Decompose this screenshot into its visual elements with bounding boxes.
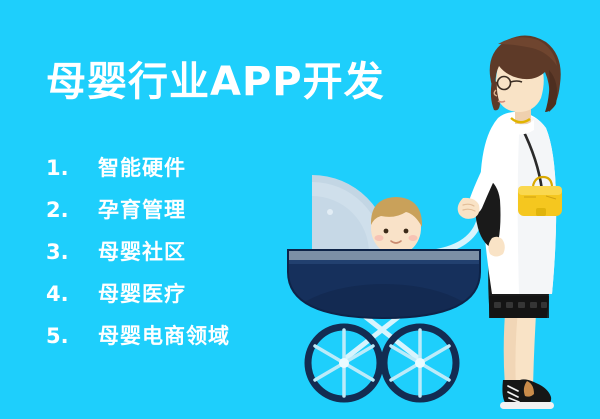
pram-handle [430, 203, 480, 253]
woman-glasses [498, 77, 523, 90]
list-item-label: 母婴社区 [98, 236, 186, 266]
list-item-label: 智能硬件 [98, 152, 186, 182]
page-title: 母婴行业APP开发 [46, 60, 385, 104]
pram-wheel-right [384, 327, 456, 399]
list-item-number: 5. [46, 324, 98, 348]
baby-figure [371, 197, 422, 256]
pram-legs [344, 300, 420, 358]
woman-shoe [500, 379, 554, 409]
list-item: 3. 母婴社区 [46, 236, 286, 278]
pram-group [284, 175, 484, 399]
pram-hood [312, 175, 390, 253]
list-item: 5. 母婴电商领域 [46, 320, 286, 362]
feature-list: 1. 智能硬件 2. 孕育管理 3. 母婴社区 4. 母婴医疗 5. 母婴电商领… [46, 152, 286, 362]
list-item-number: 4. [46, 282, 98, 306]
list-item: 4. 母婴医疗 [46, 278, 286, 320]
list-item-label: 孕育管理 [98, 194, 186, 224]
list-item-label: 母婴医疗 [98, 278, 186, 308]
woman-head [490, 36, 561, 113]
pram-basin [284, 250, 484, 376]
woman-arm [458, 150, 503, 219]
poster-canvas: 母婴行业APP开发 1. 智能硬件 2. 孕育管理 3. 母婴社区 4. 母婴医… [0, 0, 600, 419]
woman-handbag [518, 177, 562, 216]
pregnant-woman-figure [458, 36, 562, 410]
list-item-number: 3. [46, 240, 98, 264]
list-item-number: 2. [46, 198, 98, 222]
pram-wheel-left [308, 327, 380, 399]
list-item-number: 1. [46, 156, 98, 180]
list-item-label: 母婴电商领域 [98, 320, 230, 350]
list-item: 1. 智能硬件 [46, 152, 286, 194]
list-item: 2. 孕育管理 [46, 194, 286, 236]
